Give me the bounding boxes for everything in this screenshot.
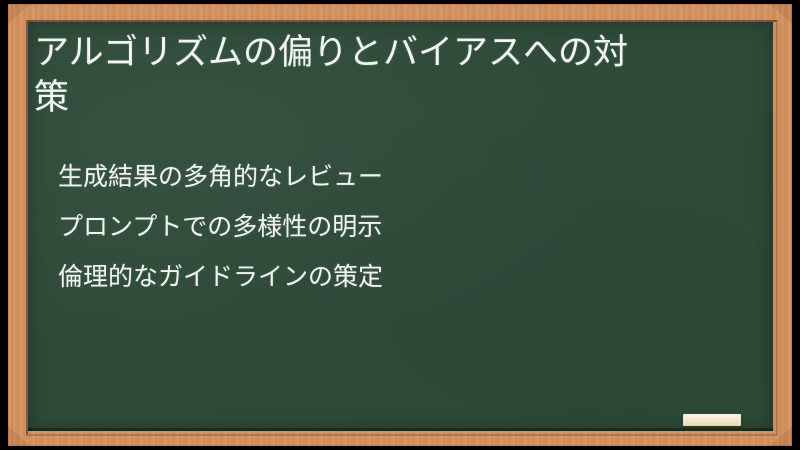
slide-title-line-2: 策 bbox=[34, 75, 734, 120]
chalk-stick-icon bbox=[683, 414, 741, 426]
slide-title: アルゴリズムの偏りとバイアスへの対 策 bbox=[34, 30, 734, 120]
list-item: プロンプトでの多様性の明示 bbox=[58, 202, 748, 252]
board-bottom-edge bbox=[28, 428, 773, 431]
list-item: 生成結果の多角的なレビュー bbox=[58, 152, 748, 202]
list-item: 倫理的なガイドラインの策定 bbox=[58, 252, 748, 302]
chalkboard-surface: アルゴリズムの偏りとバイアスへの対 策 生成結果の多角的なレビュー プロンプトで… bbox=[28, 22, 773, 431]
chalkboard-content: アルゴリズムの偏りとバイアスへの対 策 生成結果の多角的なレビュー プロンプトで… bbox=[28, 22, 773, 431]
slide-title-line-1: アルゴリズムの偏りとバイアスへの対 bbox=[34, 30, 734, 75]
bullet-list: 生成結果の多角的なレビュー プロンプトでの多様性の明示 倫理的なガイドラインの策… bbox=[58, 152, 748, 302]
chalkboard-slide: アルゴリズムの偏りとバイアスへの対 策 生成結果の多角的なレビュー プロンプトで… bbox=[0, 0, 800, 450]
